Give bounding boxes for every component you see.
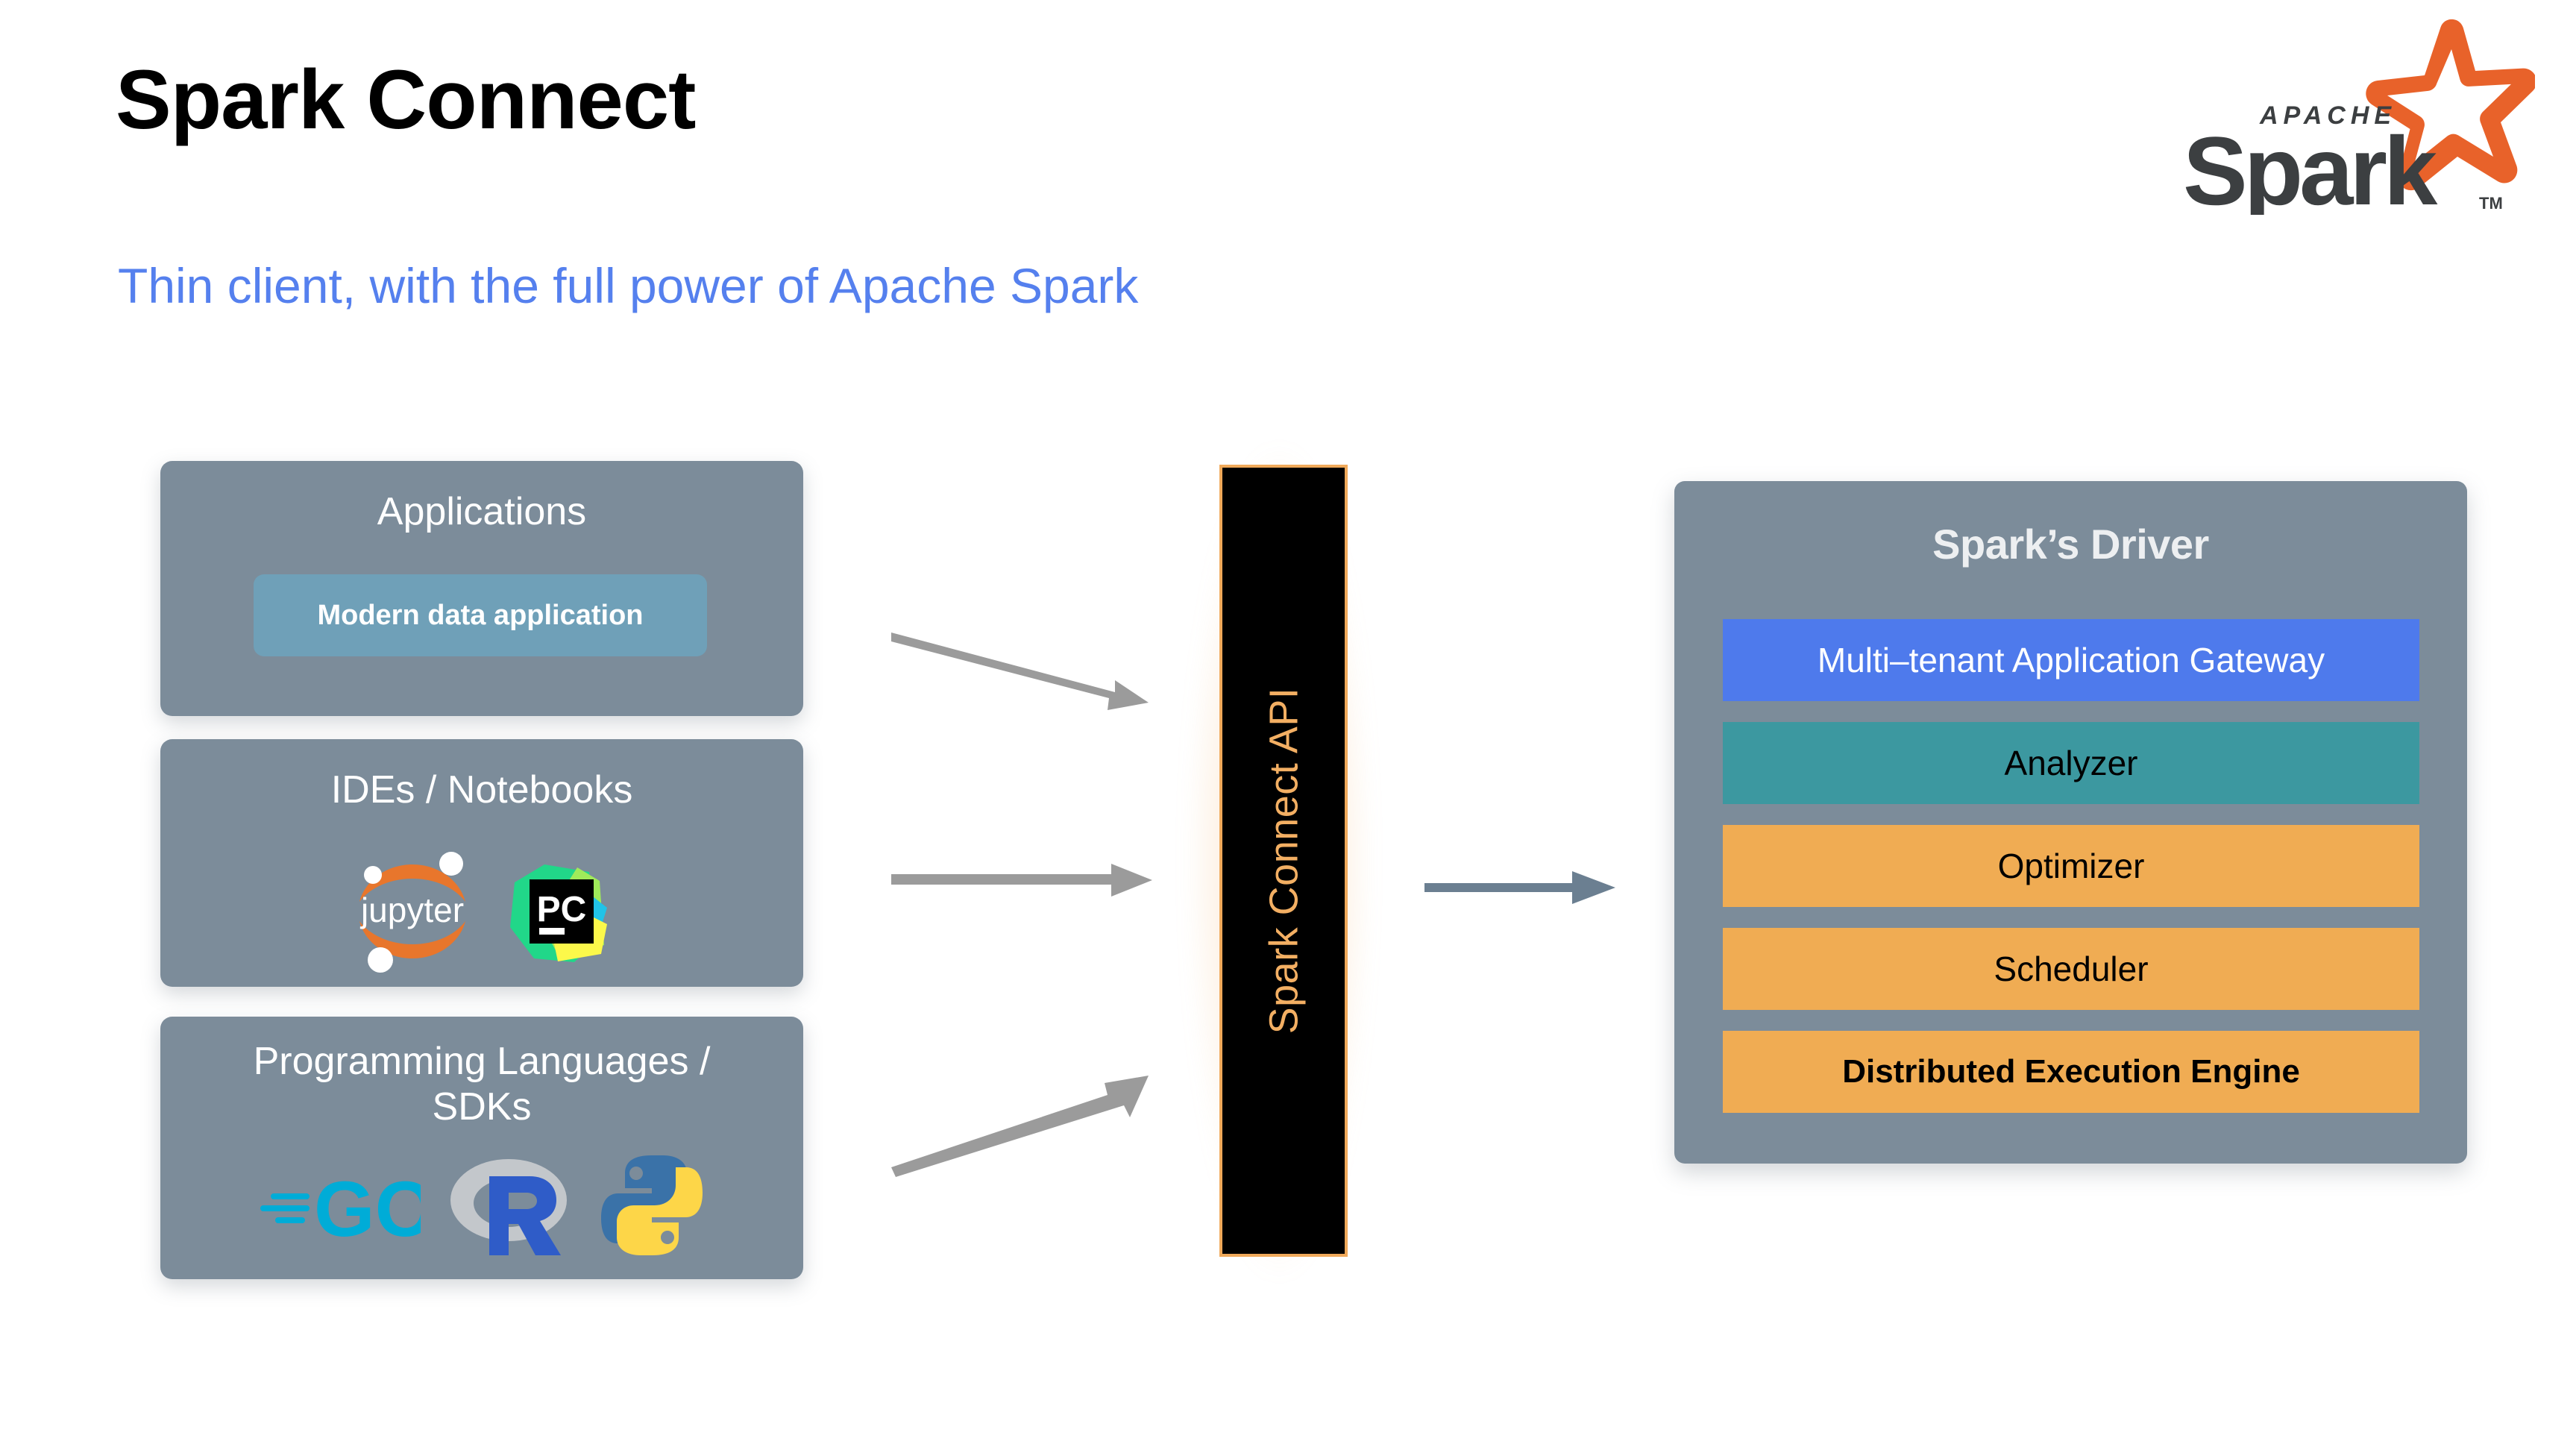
spark-driver-title: Spark’s Driver <box>1674 481 2467 568</box>
driver-row-gateway-label: Multi–tenant Application Gateway <box>1818 640 2325 680</box>
driver-row-optimizer-label: Optimizer <box>1998 846 2145 886</box>
driver-row-execution-engine-label: Distributed Execution Engine <box>1842 1053 2300 1090</box>
r-logo <box>443 1149 577 1261</box>
jupyter-dot-top-right <box>439 852 463 876</box>
ide-logo-row: jupyter PC <box>160 845 803 978</box>
panel-applications-title: Applications <box>160 461 803 535</box>
spark-wordmark: Spark <box>2183 116 2438 215</box>
panel-applications: Applications Modern data application <box>160 461 803 716</box>
driver-row-analyzer[interactable]: Analyzer <box>1723 722 2419 804</box>
spark-connect-api-label: Spark Connect API <box>1260 688 1307 1035</box>
page-title: Spark Connect <box>116 58 695 142</box>
panel-sdks-title: Programming Languages / SDKs <box>160 1017 803 1131</box>
spark-driver-panel: Spark’s Driver Multi–tenant Application … <box>1674 481 2467 1164</box>
panel-ides-notebooks: IDEs / Notebooks jupyter PC <box>160 739 803 987</box>
sdk-logo-row: GO <box>160 1149 803 1261</box>
python-logo <box>600 1152 704 1258</box>
arrow-applications-to-api <box>891 619 1160 723</box>
panel-sdks-title-line2: SDKs <box>160 1085 803 1130</box>
trademark-symbol: TM <box>2479 194 2503 213</box>
spark-connect-api-bar[interactable]: Spark Connect API <box>1219 465 1348 1257</box>
go-logo: GO <box>260 1159 421 1252</box>
go-speed-lines <box>260 1193 310 1223</box>
panel-programming-languages-sdks: Programming Languages / SDKs GO <box>160 1017 803 1279</box>
go-logo-svg: GO <box>260 1159 421 1252</box>
pycharm-pc-text: PC <box>537 890 587 929</box>
driver-row-gateway[interactable]: Multi–tenant Application Gateway <box>1723 619 2419 701</box>
driver-rows: Multi–tenant Application Gateway Analyze… <box>1723 619 2419 1113</box>
driver-row-scheduler[interactable]: Scheduler <box>1723 928 2419 1010</box>
pycharm-logo-svg: PC <box>506 856 618 967</box>
arrow-sdks-to-api <box>891 1059 1160 1178</box>
jupyter-dot-top-left <box>364 866 382 884</box>
driver-row-execution-engine[interactable]: Distributed Execution Engine <box>1723 1031 2419 1113</box>
jupyter-wordmark: jupyter <box>359 891 464 929</box>
panel-ides-title: IDEs / Notebooks <box>160 739 803 813</box>
jupyter-dot-bottom-left <box>368 947 393 973</box>
jupyter-logo: jupyter <box>346 845 479 978</box>
arrow-api-to-driver <box>1424 865 1618 910</box>
pycharm-underscore <box>539 928 565 935</box>
driver-row-analyzer-label: Analyzer <box>2005 743 2138 783</box>
svg-text:Spark: Spark <box>2183 116 2438 215</box>
modern-data-application-box[interactable]: Modern data application <box>254 574 707 656</box>
arrow-ides-to-api <box>891 858 1160 903</box>
jupyter-logo-svg: jupyter <box>346 845 479 978</box>
page-subtitle: Thin client, with the full power of Apac… <box>118 261 1138 310</box>
apache-spark-logo: APACHE Spark TM <box>2162 13 2535 215</box>
driver-row-scheduler-label: Scheduler <box>1994 949 2148 989</box>
pycharm-logo: PC <box>506 856 618 967</box>
apache-spark-logo-svg: APACHE Spark TM <box>2162 13 2535 215</box>
panel-sdks-title-line1: Programming Languages / <box>160 1039 803 1085</box>
go-wordmark: GO <box>314 1166 421 1252</box>
driver-row-optimizer[interactable]: Optimizer <box>1723 825 2419 907</box>
r-logo-svg <box>443 1149 577 1261</box>
python-logo-svg <box>600 1152 704 1258</box>
